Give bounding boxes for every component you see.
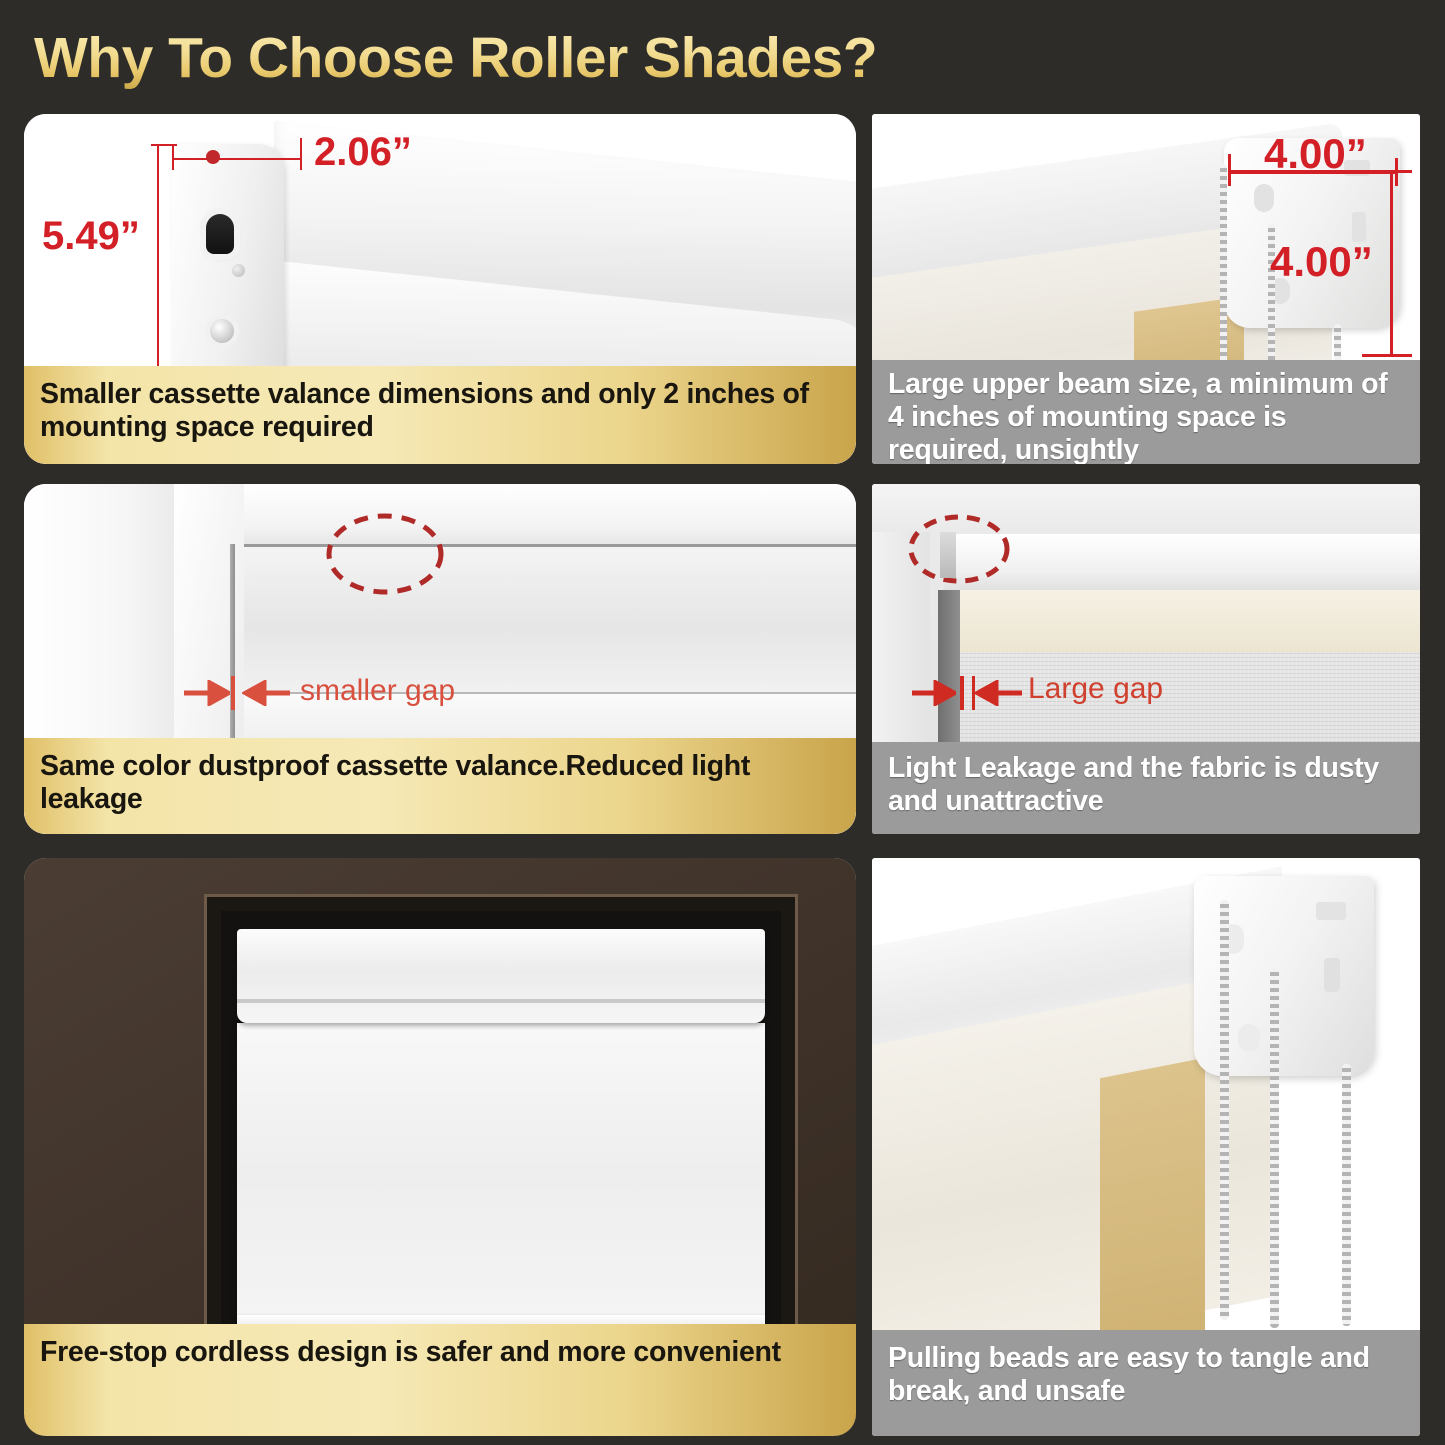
- bracket-emblem-upper: [1254, 184, 1274, 212]
- window-frame-top: [174, 484, 856, 546]
- highlight-circle-icon: [320, 508, 450, 600]
- cassette-valance-head: [237, 929, 765, 1023]
- width-dim-tick-left: [172, 146, 174, 170]
- smaller-gap-label: smaller gap: [300, 674, 455, 708]
- bead-chain-left: [1220, 164, 1227, 364]
- width-dimension-label: 2.06”: [314, 130, 412, 175]
- panel-6-caption: Pulling beads are easy to tangle and bre…: [872, 1330, 1420, 1436]
- large-gap-label: Large gap: [1028, 672, 1163, 706]
- beam-height-tick-bottom: [1362, 354, 1412, 357]
- width-dim-line: [172, 158, 302, 160]
- panel-2-caption: Large upper beam size, a minimum of 4 in…: [872, 360, 1420, 464]
- height-dimension-label: 5.49”: [42, 214, 140, 259]
- bracket-tab-mid: [1324, 958, 1340, 992]
- valance-screw: [210, 319, 234, 343]
- panel-cordless-design: Free-stop cordless design is safer and m…: [24, 858, 856, 1436]
- panel-large-upper-beam: 4.00” 4.00” Large upper beam size, a min…: [872, 114, 1420, 464]
- bead-chain-mid: [1270, 968, 1279, 1328]
- panel-smaller-cassette: 2.06” 5.49” Smaller cassette valance dim…: [24, 114, 856, 464]
- roller-rail: [944, 534, 1420, 596]
- bead-chain-left: [1220, 900, 1229, 1320]
- gap-arrow-left-icon: [912, 680, 956, 706]
- beam-width-label: 4.00”: [1264, 130, 1367, 178]
- dim-anchor-dot: [206, 150, 220, 164]
- comparison-grid: 2.06” 5.49” Smaller cassette valance dim…: [0, 0, 1445, 1445]
- gap-arrow-left-icon: [184, 680, 230, 706]
- bracket-clip: [940, 532, 956, 578]
- panel-4-caption: Light Leakage and the fabric is dusty an…: [872, 742, 1420, 834]
- fabric-cream-band: [958, 590, 1420, 652]
- gap-arrow-right-icon: [974, 680, 1022, 706]
- beam-height-tick-top: [1370, 170, 1412, 173]
- beam-height-label: 4.00”: [1270, 238, 1373, 286]
- panel-3-caption: Same color dustproof cassette valance.Re…: [24, 738, 856, 834]
- valance-slot: [206, 214, 234, 254]
- bracket-emblem-lower: [1238, 1024, 1260, 1052]
- shade-fabric: [237, 1023, 765, 1323]
- valance-bottom-edge: [237, 999, 765, 1003]
- panel-light-leakage: Large gap Light Leakage and the fabric i…: [872, 484, 1420, 834]
- beam-height-dim-line: [1390, 170, 1393, 356]
- valance-small-screw: [232, 264, 245, 277]
- gap-marker-line-a: [960, 676, 964, 710]
- width-dim-tick-right: [300, 138, 302, 170]
- bracket-tab-top: [1316, 902, 1346, 920]
- gap-marker-line: [231, 676, 235, 710]
- bead-chain-right: [1342, 1064, 1351, 1326]
- gap-arrow-right-icon: [242, 680, 290, 706]
- roller-tan-fabric: [1100, 1058, 1205, 1368]
- panel-1-caption: Smaller cassette valance dimensions and …: [24, 366, 856, 464]
- beam-width-tick-left: [1228, 154, 1231, 186]
- panel-dustproof-valance: smaller gap Same color dustproof cassett…: [24, 484, 856, 834]
- highlight-circle-icon: [904, 510, 1014, 588]
- panel-pulling-beads: Pulling beads are easy to tangle and bre…: [872, 858, 1420, 1436]
- panel-5-caption: Free-stop cordless design is safer and m…: [24, 1324, 856, 1436]
- gap-marker-line-b: [972, 676, 975, 710]
